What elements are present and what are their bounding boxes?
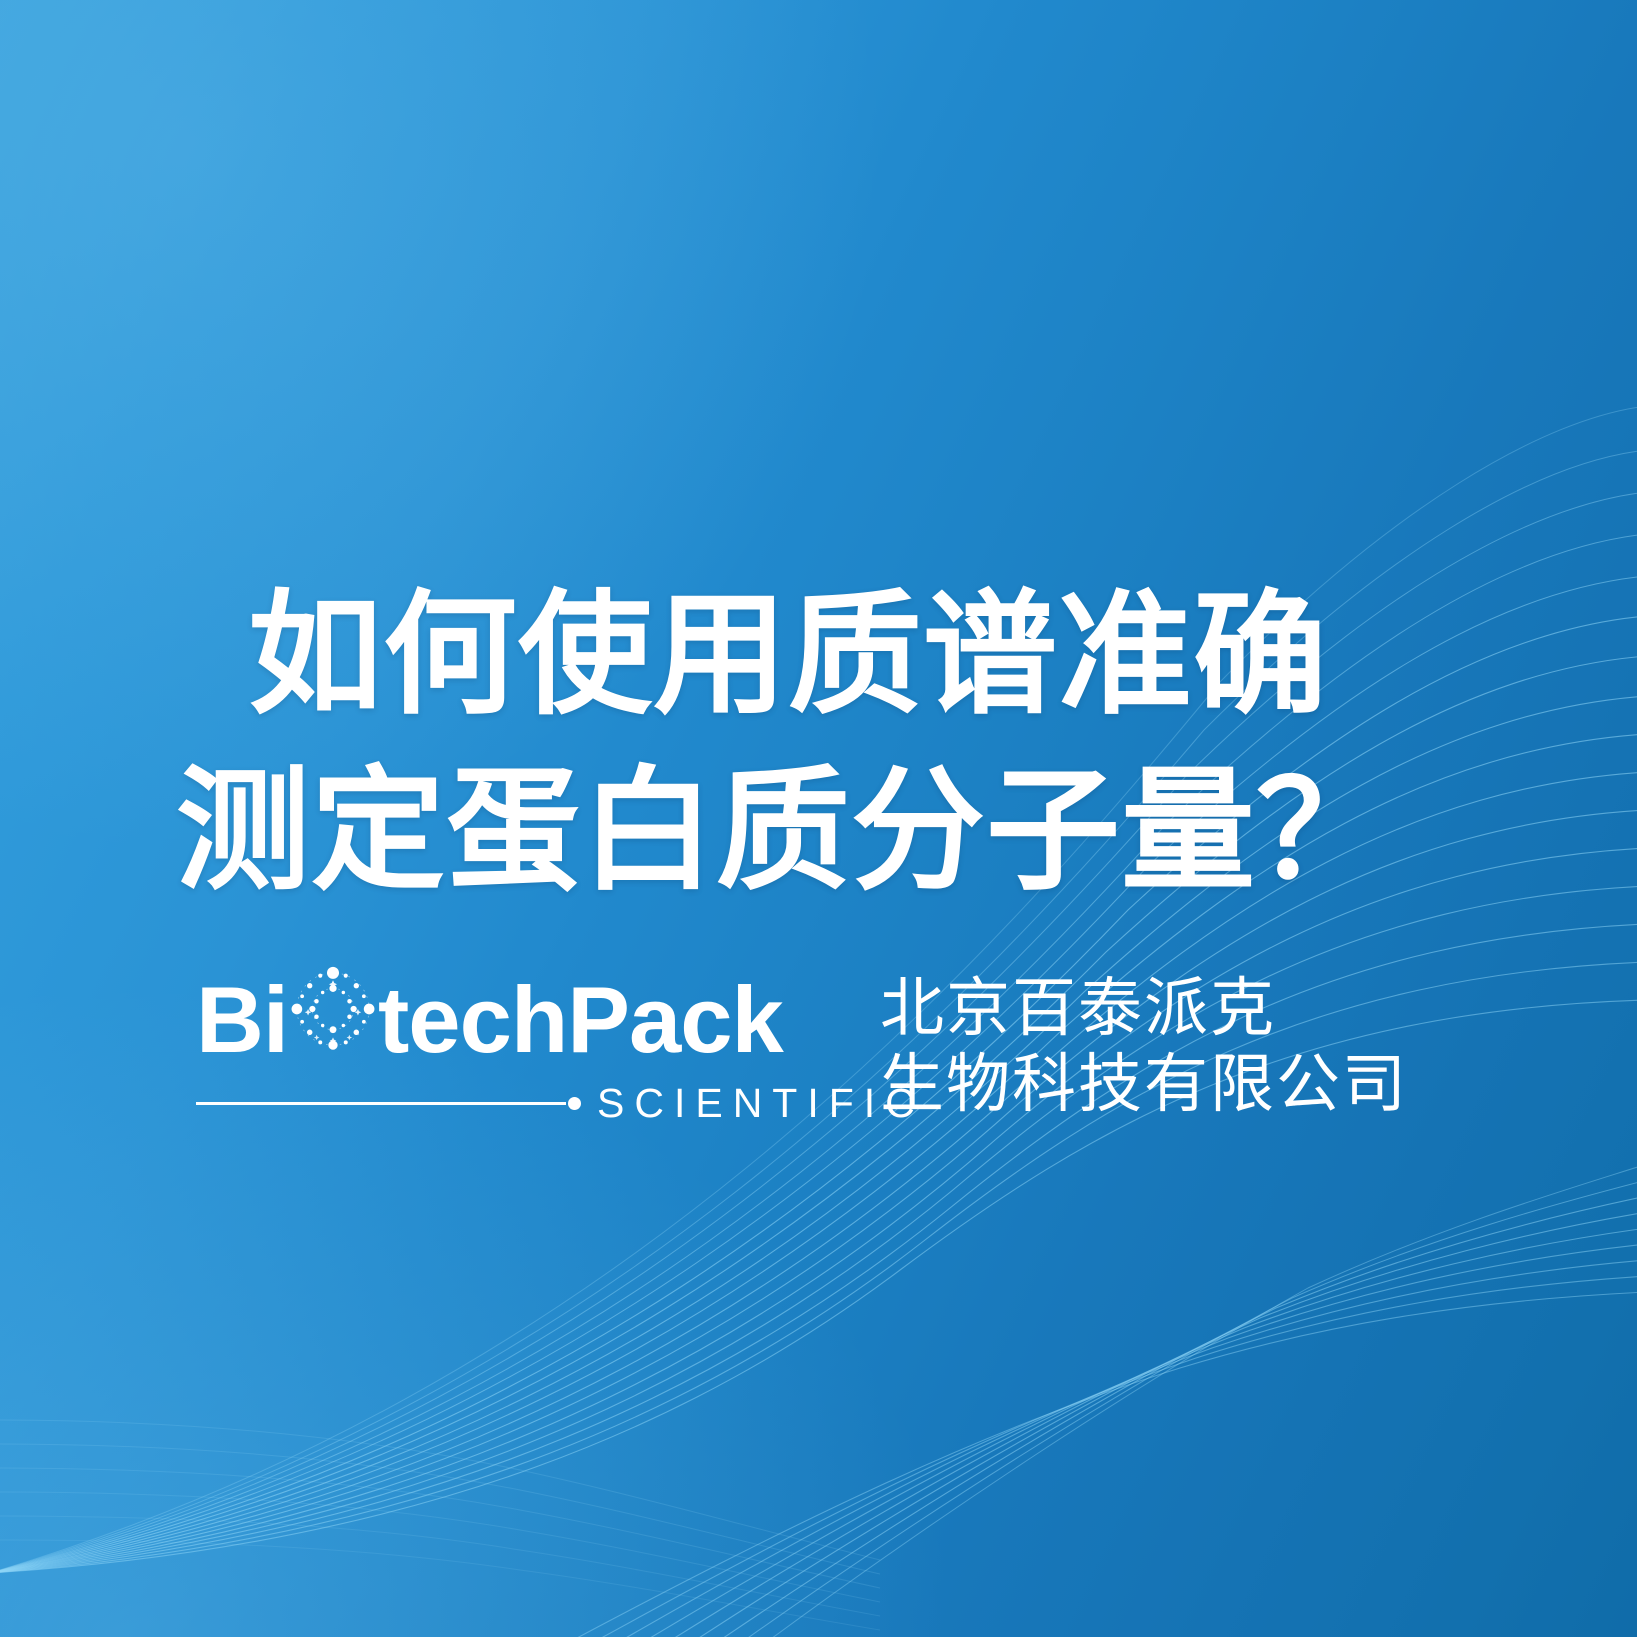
company-name-cn-line-2: 生物科技有限公司 xyxy=(880,1046,1408,1122)
logo-divider-dot xyxy=(568,1097,581,1110)
wordmark-part-1: Bi xyxy=(196,968,288,1072)
title-line-1: 如何使用质谱准确 xyxy=(248,568,1448,744)
logo-latin-lockup: Bi xyxy=(196,966,846,1124)
company-name-cn: 北京百泰派克 生物科技有限公司 xyxy=(880,966,1408,1122)
logo-wordmark: Bi xyxy=(196,966,846,1076)
title-line-2: 测定蛋白质分子量？ xyxy=(176,744,1448,920)
wave-bundle-lower xyxy=(560,1164,1637,1637)
logo-divider-rule xyxy=(196,1102,566,1105)
wave-bundle-faint-left xyxy=(0,1420,880,1630)
page-title: 如何使用质谱准确 测定蛋白质分子量？ xyxy=(248,568,1448,920)
company-name-cn-line-1: 北京百泰派克 xyxy=(880,970,1408,1046)
wordmark-part-2: techPack xyxy=(378,968,783,1072)
logo-tagline-row: SCIENTIFIC xyxy=(196,1082,844,1124)
brand-logo: Bi xyxy=(196,966,1408,1124)
molecule-ring-icon xyxy=(290,966,376,1052)
logo-tagline: SCIENTIFIC xyxy=(597,1082,925,1124)
poster-canvas: 如何使用质谱准确 测定蛋白质分子量？ Bi xyxy=(0,0,1637,1637)
